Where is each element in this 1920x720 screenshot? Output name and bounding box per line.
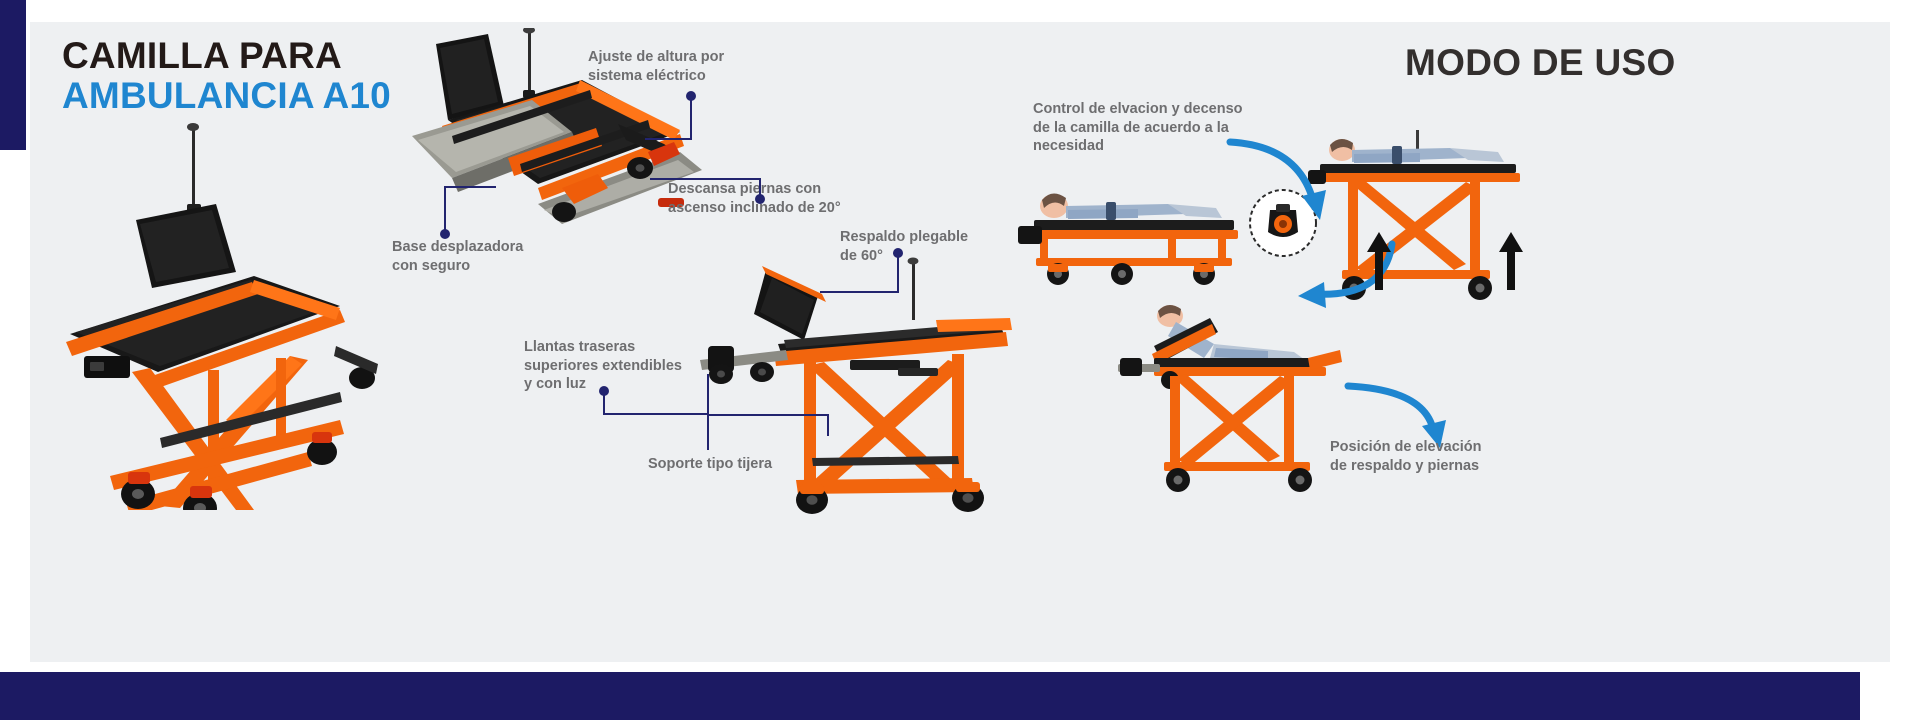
callout-line-height-adjust-h — [645, 138, 692, 140]
callout-line-rear-wheels-h — [603, 413, 709, 415]
callout-label-elevation-position: Posición de elevación de respaldo y pier… — [1330, 438, 1560, 475]
navy-corner-tab — [0, 0, 26, 150]
usage-backrest-legs-illustration — [1118, 300, 1348, 500]
callout-label-scissor-support: Soporte tipo tijera — [648, 455, 808, 474]
callout-line-backrest-v — [897, 253, 899, 293]
section-title-modo-de-uso: MODO DE USO — [1405, 42, 1676, 84]
callout-label-elevation-control: Control de elvacion y decenso de la cami… — [1033, 100, 1283, 156]
up-arrow-right-icon — [1498, 232, 1524, 290]
up-arrow-left-icon — [1366, 232, 1392, 290]
callout-label-height-adjust: Ajuste de altura por sistema eléctrico — [588, 48, 798, 85]
callout-label-rear-wheels: Llantas traseras superiores extendibles … — [524, 338, 754, 394]
callout-line-scissor-v — [707, 414, 709, 450]
callout-line-sliding-base-v — [444, 186, 446, 234]
callout-line-height-adjust-v — [690, 96, 692, 140]
callout-label-backrest: Respaldo plegable de 60° — [840, 228, 1020, 265]
callout-label-leg-rest: Descansa piernas con ascenso inclinado d… — [668, 180, 898, 217]
page-title-line1: CAMILLA PARA — [62, 36, 391, 76]
callout-line-leg-rest-h — [650, 178, 761, 180]
page-title-line2: AMBULANCIA A10 — [62, 76, 391, 116]
callout-label-sliding-base: Base desplazadora con seguro — [392, 238, 612, 275]
infographic-canvas: CAMILLA PARA AMBULANCIA A10 MODO DE USO — [0, 0, 1920, 720]
page-title: CAMILLA PARA AMBULANCIA A10 — [62, 36, 391, 116]
callout-dot-sliding-base — [440, 229, 450, 239]
callout-line-leg-rest-v — [759, 178, 761, 196]
callout-line-scissor-h — [707, 414, 829, 416]
navy-footer-bar — [0, 672, 1920, 720]
callout-line-rear-wheels-v2 — [707, 374, 709, 414]
callout-line-backrest-h — [820, 291, 898, 293]
callout-line-scissor-v2 — [827, 414, 829, 436]
callout-line-sliding-base-h — [444, 186, 496, 188]
callout-line-rear-wheels-v — [603, 391, 605, 415]
navy-footer-notch — [1860, 672, 1920, 720]
hero-stretcher-photo — [40, 120, 400, 510]
